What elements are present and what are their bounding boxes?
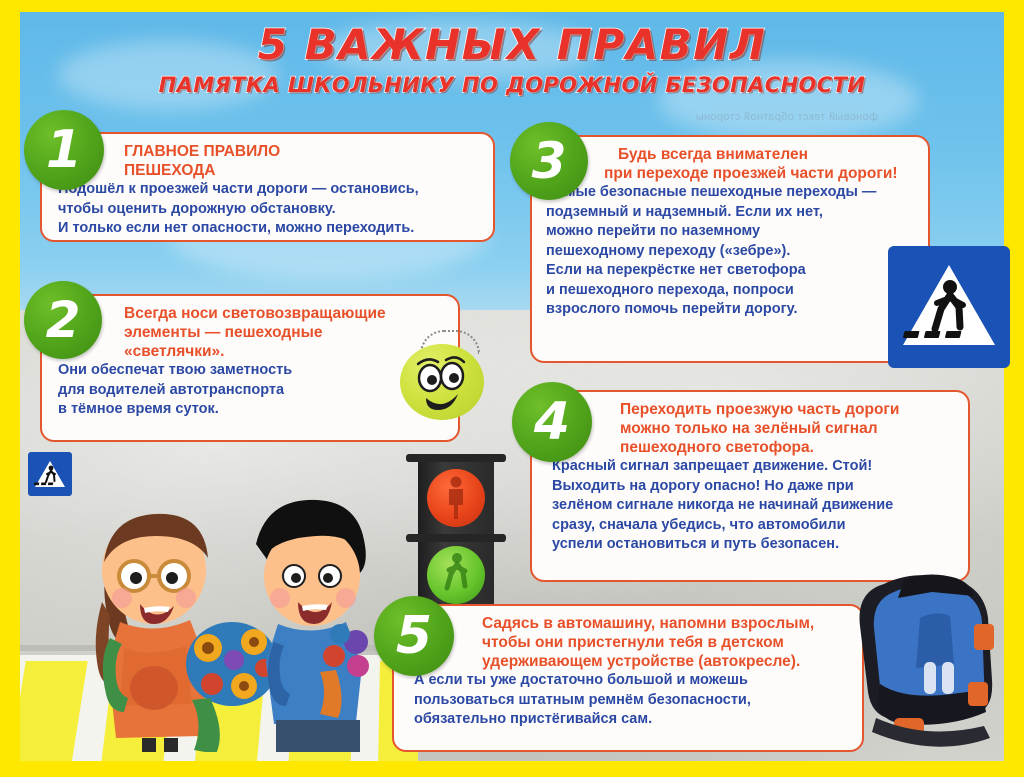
rule-headline-line: чтобы они пристегнули тебя в детском bbox=[482, 633, 850, 652]
rule-body-line: А если ты уже достаточно большой и можеш… bbox=[414, 671, 850, 691]
rule-body-line: подземный и надземный. Если их нет, bbox=[546, 203, 916, 223]
rule-body-line: взрослого помочь перейти дорогу. bbox=[546, 300, 916, 320]
rule-body-line: Самые безопасные пешеходные переходы — bbox=[546, 183, 916, 203]
poster-frame-left bbox=[0, 0, 20, 777]
rule-headline-line: ГЛАВНОЕ ПРАВИЛО bbox=[124, 142, 481, 161]
rule-number-badge-2: 2 bbox=[24, 281, 102, 359]
rule-headline-line: Садясь в автомашину, напомни взрослым, bbox=[482, 614, 850, 633]
rule-body-line: обязательно пристёгивайся сам. bbox=[414, 710, 850, 730]
rule-number-badge-3: 3 bbox=[510, 122, 588, 200]
rule-headline-line: пешеходного светофора. bbox=[620, 438, 956, 457]
pedestrian-crossing-sign bbox=[888, 246, 1010, 368]
rule-headline-3: Будь всегда внимателен при переходе прое… bbox=[604, 145, 916, 183]
rule-body-line: сразу, сначала убедись, что автомобили bbox=[552, 516, 956, 536]
rule-body-4: Красный сигнал запрещает движение. Стой!… bbox=[552, 457, 956, 555]
rule-headline-5: Садясь в автомашину, напомни взрослым, ч… bbox=[472, 614, 850, 671]
rule-headline-line: «светлячки». bbox=[124, 342, 446, 361]
rule-card-3: Будь всегда внимателен при переходе прое… bbox=[530, 135, 930, 363]
green-signal-lamp bbox=[427, 546, 485, 604]
rule-body-line: Красный сигнал запрещает движение. Стой! bbox=[552, 457, 956, 477]
rule-body-line: чтобы оценить дорожную обстановку. bbox=[58, 200, 481, 220]
rule-card-1: ГЛАВНОЕ ПРАВИЛО ПЕШЕХОДА Подошёл к проез… bbox=[40, 132, 495, 242]
rule-body-line: в тёмное время суток. bbox=[58, 400, 446, 420]
rule-headline-line: удерживающем устройстве (автокресле). bbox=[482, 652, 850, 671]
road-safety-poster: текст фоновый страницы памятки фоновый т… bbox=[0, 0, 1024, 777]
poster-frame-top bbox=[0, 0, 1024, 12]
rule-headline-line: при переходе проезжей части дороги! bbox=[604, 164, 916, 183]
rule-body-line: И только если нет опасности, можно перех… bbox=[58, 219, 481, 239]
rule-headline-line: элементы — пешеходные bbox=[124, 323, 446, 342]
rule-headline-2: Всегда носи световозвращающие элементы —… bbox=[124, 304, 446, 361]
reflector-ball bbox=[400, 344, 484, 420]
rule-body-line: успели остановиться и путь безопасен. bbox=[552, 535, 956, 555]
rule-body-line: для водителей автотранспорта bbox=[58, 381, 446, 401]
child-car-seat-illustration bbox=[858, 566, 1008, 756]
rule-headline-1: ГЛАВНОЕ ПРАВИЛО ПЕШЕХОДА bbox=[124, 142, 481, 180]
rule-card-5: Садясь в автомашину, напомни взрослым, ч… bbox=[392, 604, 864, 752]
rule-headline-4: Переходить проезжую часть дороги можно т… bbox=[610, 400, 956, 457]
children-illustration bbox=[58, 452, 374, 752]
red-signal-lamp bbox=[427, 469, 485, 527]
pedestrian-traffic-light bbox=[404, 458, 508, 618]
poster-frame-bottom bbox=[0, 761, 1024, 777]
poster-title: 5 ВАЖНЫХ ПРАВИЛ bbox=[0, 22, 1024, 68]
rule-body-line: зелёном сигнале никогда не начинай движе… bbox=[552, 496, 956, 516]
background-ghost-text: фоновый текст обратной стороны bbox=[578, 110, 878, 125]
rule-card-2: Всегда носи световозвращающие элементы —… bbox=[40, 294, 460, 442]
smiley-reflector-keychain bbox=[400, 330, 486, 416]
rule-body-line: Они обеспечат твою заметность bbox=[58, 361, 446, 381]
rule-body-line: пешеходному переходу («зебре»). bbox=[546, 242, 916, 262]
rule-body-line: Если на перекрёстке нет светофора bbox=[546, 261, 916, 281]
rule-headline-line: ПЕШЕХОДА bbox=[124, 161, 481, 180]
rule-body-line: Подошёл к проезжей части дороги — остано… bbox=[58, 180, 481, 200]
rule-body-3: Самые безопасные пешеходные переходы — п… bbox=[546, 183, 916, 320]
rule-number-badge-5: 5 bbox=[374, 596, 454, 676]
rule-body-line: Выходить на дорогу опасно! Но даже при bbox=[552, 477, 956, 497]
poster-subtitle: ПАМЯТКА ШКОЛЬНИКУ ПО ДОРОЖНОЙ БЕЗОПАСНОС… bbox=[0, 73, 1024, 97]
rule-body-line: пользоваться штатным ремнём безопасности… bbox=[414, 691, 850, 711]
rule-headline-line: Переходить проезжую часть дороги bbox=[620, 400, 956, 419]
rule-headline-line: Будь всегда внимателен bbox=[618, 145, 916, 164]
rule-card-4: Переходить проезжую часть дороги можно т… bbox=[530, 390, 970, 582]
rule-number-badge-4: 4 bbox=[512, 382, 592, 462]
rule-number-badge-1: 1 bbox=[24, 110, 104, 190]
rule-headline-line: можно только на зелёный сигнал bbox=[620, 419, 956, 438]
rule-body-line: можно перейти по наземному bbox=[546, 222, 916, 242]
poster-header: 5 ВАЖНЫХ ПРАВИЛ ПАМЯТКА ШКОЛЬНИКУ ПО ДОР… bbox=[0, 22, 1024, 97]
rule-body-line: и пешеходного перехода, попроси bbox=[546, 281, 916, 301]
rule-body-5: А если ты уже достаточно большой и можеш… bbox=[414, 671, 850, 730]
rule-body-1: Подошёл к проезжей части дороги — остано… bbox=[58, 180, 481, 239]
rule-headline-line: Всегда носи световозвращающие bbox=[124, 304, 446, 323]
rule-body-2: Они обеспечат твою заметность для водите… bbox=[58, 361, 446, 420]
